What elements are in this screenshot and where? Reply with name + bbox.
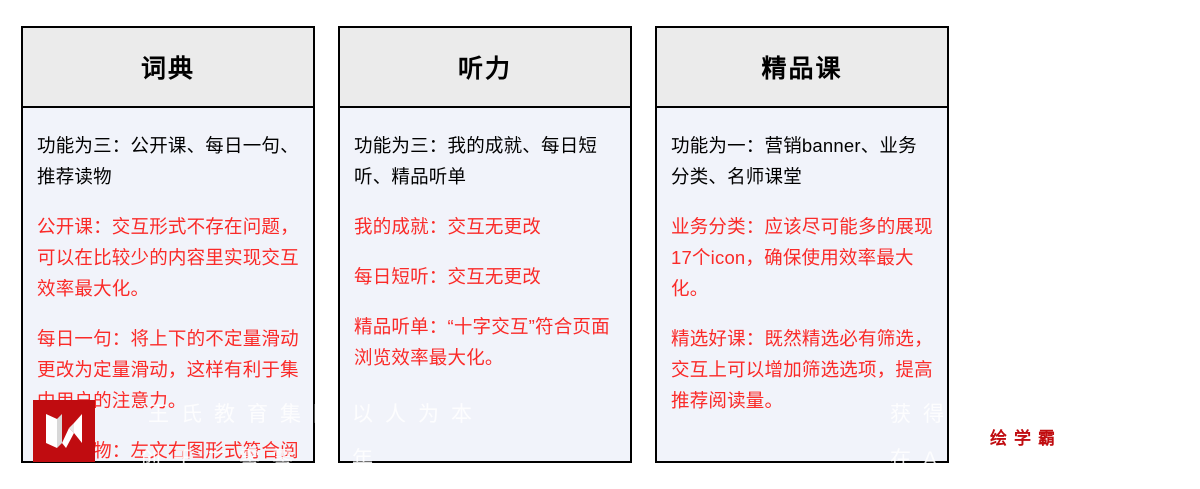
card-paragraph-intro: 功能为一：营销banner、业务分类、名师课堂 [671,130,933,192]
feature-card-premium-course: 精品课 功能为一：营销banner、业务分类、名师课堂 业务分类：应该尽可能多的… [655,26,949,463]
card-title-listening: 听力 [458,49,512,85]
card-paragraph-note: 业务分类：应该尽可能多的展现17个icon，确保使用效率最大化。 [671,211,933,304]
feature-card-dictionary: 词典 功能为三：公开课、每日一句、推荐读物 公开课：交互形式不存在问题，可以在比… [21,26,315,463]
feature-card-listening: 听力 功能为三：我的成就、每日短听、精品听单 我的成就：交互无更改 每日短听：交… [338,26,632,463]
brand-logo-icon [33,400,95,462]
card-paragraph-intro: 功能为三：公开课、每日一句、推荐读物 [37,130,299,192]
card-header-premium-course: 精品课 [657,28,947,108]
card-paragraph-note: 我的成就：交互无更改 [354,211,616,242]
card-title-premium-course: 精品课 [761,49,842,85]
card-paragraph-note: 每日短听：交互无更改 [354,261,616,292]
card-body-listening: 功能为三：我的成就、每日短听、精品听单 我的成就：交互无更改 每日短听：交互无更… [340,108,630,461]
card-paragraph-intro: 功能为三：我的成就、每日短听、精品听单 [354,130,616,192]
card-paragraph-note: 精品听单：“十字交互”符合页面浏览效率最大化。 [354,311,616,373]
card-title-dictionary: 词典 [141,49,195,85]
brand-wordmark: 绘学霸 [990,424,1062,449]
card-header-dictionary: 词典 [23,28,313,108]
card-paragraph-note: 精选好课：既然精选必有筛选，交互上可以增加筛选选项，提高推荐阅读量。 [671,323,933,416]
feature-comparison-board: 词典 功能为三：公开课、每日一句、推荐读物 公开课：交互形式不存在问题，可以在比… [21,26,949,463]
card-body-premium-course: 功能为一：营销banner、业务分类、名师课堂 业务分类：应该尽可能多的展现17… [657,108,947,461]
card-paragraph-note: 公开课：交互形式不存在问题，可以在比较少的内容里实现交互效率最大化。 [37,211,299,304]
card-header-listening: 听力 [340,28,630,108]
